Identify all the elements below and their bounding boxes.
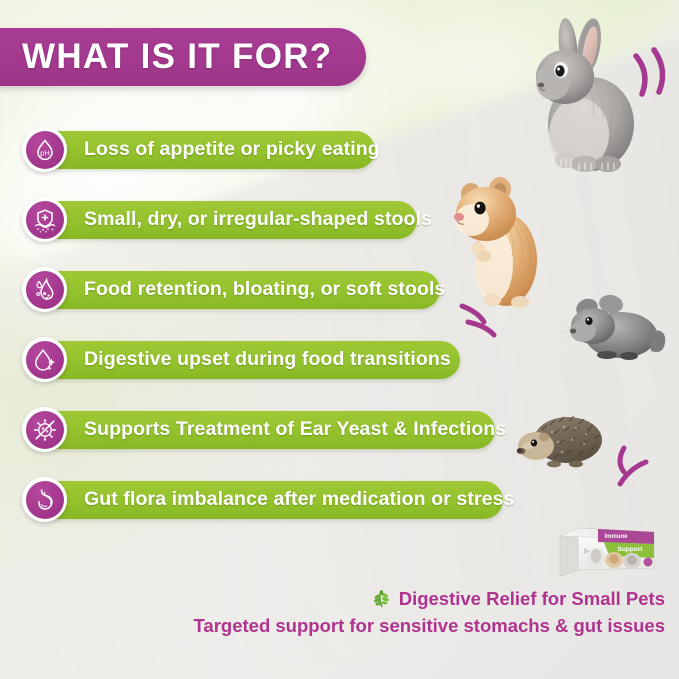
germ-blocked-icon <box>22 407 67 452</box>
benefit-label: Small, dry, or irregular-shaped stools <box>84 208 432 231</box>
rabbit-signal-arcs <box>628 44 668 104</box>
footer-tagline-primary: Digestive Relief for Small Pets <box>0 588 665 610</box>
benefit-row[interactable]: Gut flora imbalance after medication or … <box>0 476 679 523</box>
benefit-pill[interactable]: Food retention, bloating, or soft stools <box>40 271 440 309</box>
footer-tagline-primary-text: Digestive Relief for Small Pets <box>399 588 665 610</box>
page-title: WHAT IS IT FOR? <box>22 37 332 77</box>
footer-tagline-secondary: Targeted support for sensitive stomachs … <box>0 615 665 637</box>
svg-text:pH: pH <box>40 148 50 157</box>
benefit-pill[interactable]: Digestive upset during food transitions <box>40 341 460 379</box>
stomach-bubbles-icon <box>22 267 67 312</box>
benefit-label: Loss of appetite or picky eating <box>84 138 380 161</box>
benefit-label: Supports Treatment of Ear Yeast & Infect… <box>84 418 506 441</box>
ph-droplet-icon: pH <box>22 127 67 172</box>
benefit-row[interactable]: Food retention, bloating, or soft stools <box>0 266 679 313</box>
sparkle-droplet-icon <box>22 337 67 382</box>
benefit-row[interactable]: Small, dry, or irregular-shaped stools <box>0 196 679 243</box>
footer-block: Digestive Relief for Small Pets Targeted… <box>0 588 665 637</box>
benefit-pill[interactable]: Gut flora imbalance after medication or … <box>40 481 503 519</box>
benefit-label: Digestive upset during food transitions <box>84 348 451 371</box>
benefit-pill[interactable]: Small, dry, or irregular-shaped stools <box>40 201 417 239</box>
benefit-pill[interactable]: Loss of appetite or picky eating <box>40 131 375 169</box>
stomach-icon <box>22 477 67 522</box>
header-banner: WHAT IS IT FOR? <box>0 28 366 86</box>
benefits-list: Loss of appetite or picky eating pH Smal… <box>0 126 679 546</box>
benefit-row[interactable]: Digestive upset during food transitions <box>0 336 679 383</box>
benefit-row[interactable]: Supports Treatment of Ear Yeast & Infect… <box>0 406 679 453</box>
benefit-label: Food retention, bloating, or soft stools <box>84 278 445 301</box>
shield-cross-icon <box>22 197 67 242</box>
benefit-pill[interactable]: Supports Treatment of Ear Yeast & Infect… <box>40 411 495 449</box>
leaf-sprig-icon <box>372 590 392 608</box>
svg-text:Support: Support <box>618 546 644 553</box>
infographic-canvas: WHAT IS IT FOR? <box>0 0 679 679</box>
benefit-row[interactable]: Loss of appetite or picky eating pH <box>0 126 679 173</box>
benefit-label: Gut flora imbalance after medication or … <box>84 488 514 511</box>
